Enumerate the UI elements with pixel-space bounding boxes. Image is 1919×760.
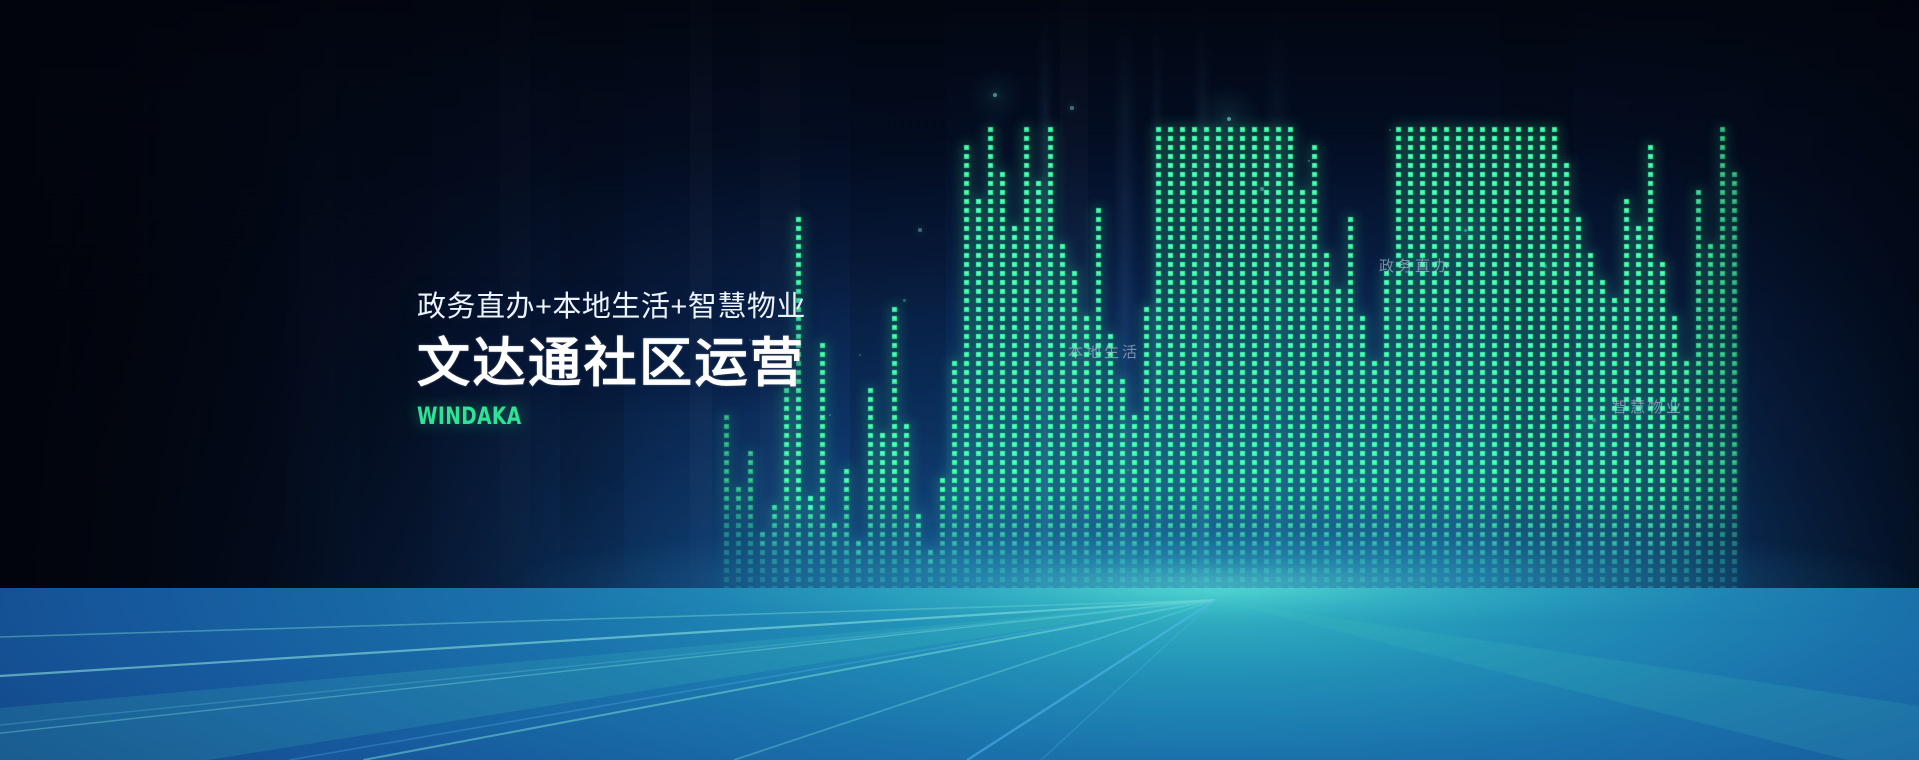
label-government-service: 政务直办 <box>1379 255 1451 276</box>
floor-sheen-right <box>1215 600 1919 760</box>
banner-title: 文达通社区运营 <box>417 335 806 392</box>
headline-block: 政务直办+本地生活+智慧物业 文达通社区运营 WINDAKA <box>417 292 806 430</box>
floor-ray <box>1041 600 1215 760</box>
banner-subtitle: 政务直办+本地生活+智慧物业 <box>417 292 806 324</box>
floor-ray-lines <box>0 588 1919 760</box>
brand-wordmark: WINDAKA <box>417 402 751 430</box>
promo-banner: 政务直办 本地生活 智慧物业 政务直办+本地生活+智慧物业 文达通社区运营 WI… <box>0 0 1919 760</box>
label-local-life: 本地生活 <box>1068 341 1140 362</box>
floor-sheen-left <box>0 600 1215 760</box>
label-smart-property: 智慧物业 <box>1612 396 1684 417</box>
perspective-floor <box>0 588 1919 760</box>
